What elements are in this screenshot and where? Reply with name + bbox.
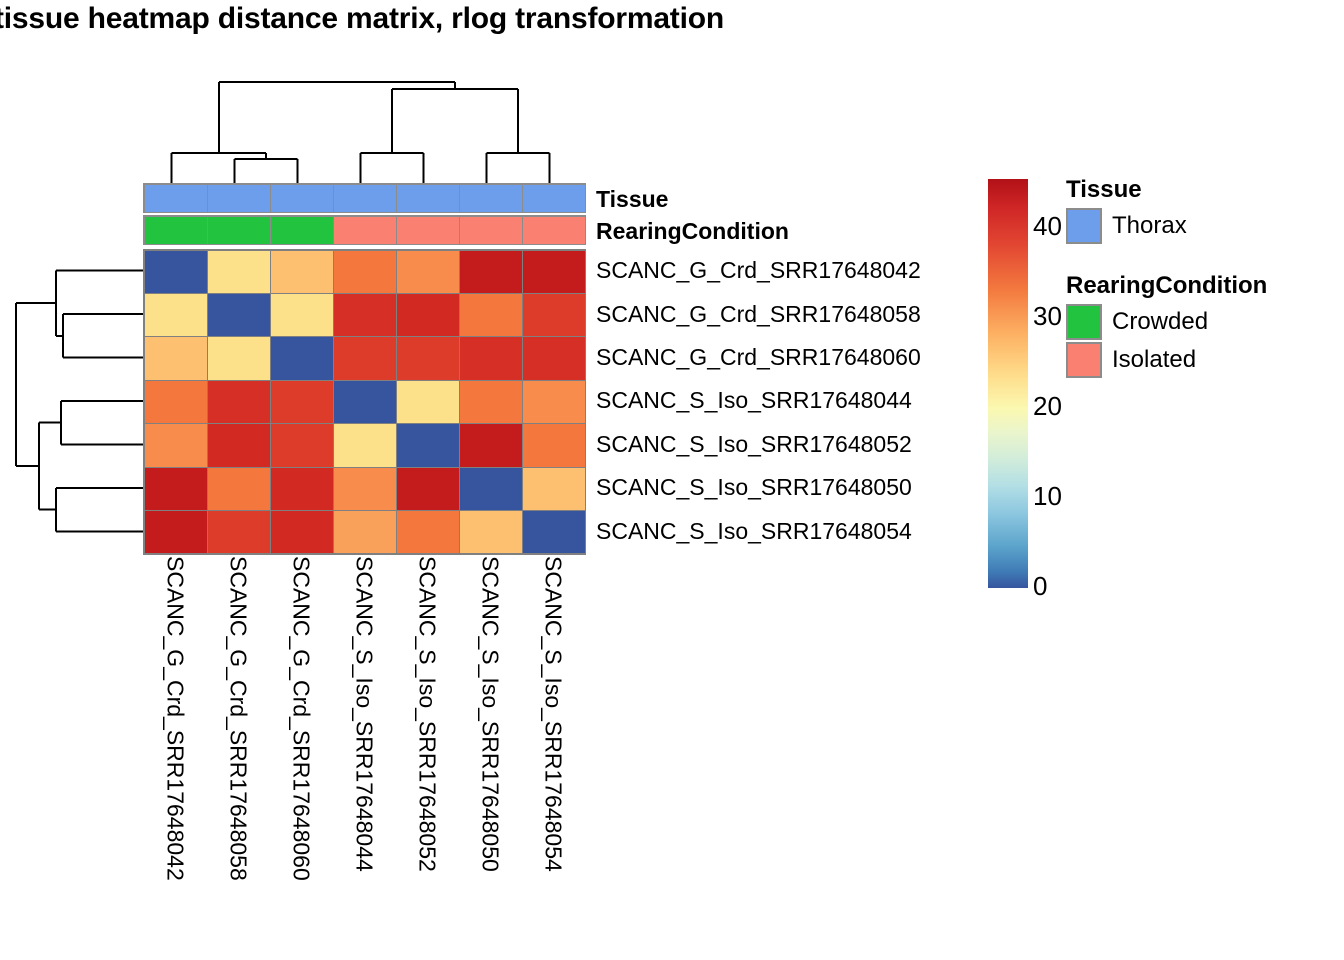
annotation-cell-tissue [207,184,271,213]
heatmap-cell [270,336,334,380]
row-label: SCANC_G_Crd_SRR17648058 [596,292,921,335]
colorbar-tick-label: 0 [1033,571,1047,602]
colorbar-tick-label: 10 [1033,481,1062,512]
heatmap-cell [522,250,586,294]
heatmap-cell [459,510,523,554]
heatmap-cell [207,510,271,554]
heatmap-cell [396,293,460,337]
column-label-text: SCANC_S_Iso_SRR17648052 [413,556,440,872]
heatmap-cell [333,293,397,337]
heatmap-cell [207,380,271,424]
annotation-cell-rearingcondition [459,216,523,245]
heatmap-cell [270,423,334,467]
heatmap-cell [396,336,460,380]
column-label-text: SCANC_G_Crd_SRR17648060 [287,556,314,881]
heatmap-cell [207,293,271,337]
heatmap-cell [207,250,271,294]
column-label-text: SCANC_G_Crd_SRR17648058 [224,556,251,881]
heatmap-cell [459,423,523,467]
annotation-bar-tissue [143,183,586,213]
heatmap-cell [333,380,397,424]
row-label-list: SCANC_G_Crd_SRR17648042SCANC_G_Crd_SRR17… [596,249,921,553]
heatmap-cell [522,293,586,337]
row-dendrogram [6,249,143,553]
legend-item-label: Isolated [1112,346,1196,374]
heatmap-cell [333,336,397,380]
column-label-text: SCANC_S_Iso_SRR17648044 [350,556,377,872]
annotation-cell-tissue [270,184,334,213]
colorbar-tick-label: 30 [1033,301,1062,332]
heatmap-cell [396,423,460,467]
annotation-bar-rearingcondition [143,215,586,245]
annotation-cell-tissue [144,184,208,213]
legend-swatch [1066,342,1102,378]
heatmap-matrix [143,249,586,555]
heatmap-cell [459,293,523,337]
heatmap-cell [522,510,586,554]
column-label: SCANC_S_Iso_SRR17648052 [395,556,458,956]
heatmap-cell [459,336,523,380]
heatmap-cell [333,510,397,554]
legend-item-label: Crowded [1112,308,1208,336]
column-label: SCANC_G_Crd_SRR17648058 [206,556,269,956]
column-label: SCANC_G_Crd_SRR17648042 [143,556,206,956]
annotation-cell-rearingcondition [333,216,397,245]
heatmap-cell [459,467,523,511]
row-label: SCANC_S_Iso_SRR17648044 [596,379,921,422]
legend-item-label: Thorax [1112,212,1187,240]
colorbar-tick-label: 40 [1033,211,1062,242]
annotation-cell-rearingcondition [270,216,334,245]
heatmap-cell [270,380,334,424]
heatmap-cell [333,423,397,467]
column-label-text: SCANC_S_Iso_SRR17648050 [476,556,503,872]
heatmap-cell [144,423,208,467]
heatmap-cell [144,293,208,337]
heatmap-cell [270,467,334,511]
heatmap-cell [270,510,334,554]
annotation-cell-rearingcondition [522,216,586,245]
legend-title-tissue: Tissue [1066,176,1142,204]
annotation-label-rearingcondition: RearingCondition [596,218,789,245]
column-label-list: SCANC_G_Crd_SRR17648042SCANC_G_Crd_SRR17… [143,556,584,956]
heatmap-cell [144,336,208,380]
heatmap-cell [522,423,586,467]
column-label: SCANC_G_Crd_SRR17648060 [269,556,332,956]
annotation-cell-rearingcondition [144,216,208,245]
annotation-cell-tissue [522,184,586,213]
heatmap-cell [144,380,208,424]
row-label: SCANC_G_Crd_SRR17648060 [596,336,921,379]
row-label: SCANC_S_Iso_SRR17648052 [596,423,921,466]
annotation-cell-tissue [333,184,397,213]
heatmap-cell [396,467,460,511]
heatmap-cell [333,250,397,294]
row-label: SCANC_S_Iso_SRR17648054 [596,510,921,553]
row-label: SCANC_G_Crd_SRR17648042 [596,249,921,292]
column-dendrogram [140,40,600,185]
annotation-cell-tissue [459,184,523,213]
column-label-text: SCANC_S_Iso_SRR17648054 [539,556,566,872]
legend-swatch [1066,304,1102,340]
heatmap-cell [270,293,334,337]
distance-colorbar [988,179,1028,588]
legend-swatch [1066,208,1102,244]
row-label: SCANC_S_Iso_SRR17648050 [596,466,921,509]
heatmap-cell [396,510,460,554]
annotation-cell-rearingcondition [396,216,460,245]
annotation-cell-rearingcondition [207,216,271,245]
column-label-text: SCANC_G_Crd_SRR17648042 [161,556,188,881]
heatmap-cell [396,250,460,294]
heatmap-cell [144,250,208,294]
column-label: SCANC_S_Iso_SRR17648044 [332,556,395,956]
heatmap-cell [333,467,397,511]
heatmap-cell [522,336,586,380]
heatmap-cell [207,336,271,380]
page-title: tissue heatmap distance matrix, rlog tra… [0,2,724,36]
heatmap-cell [396,380,460,424]
heatmap-cell [459,380,523,424]
heatmap-cell [144,510,208,554]
heatmap-cell [207,423,271,467]
legend-title-rearingcondition: RearingCondition [1066,272,1267,300]
heatmap-cell [207,467,271,511]
colorbar-tick-label: 20 [1033,391,1062,422]
column-label: SCANC_S_Iso_SRR17648054 [521,556,584,956]
heatmap-cell [522,380,586,424]
heatmap-cell [522,467,586,511]
column-label: SCANC_S_Iso_SRR17648050 [458,556,521,956]
heatmap-cell [270,250,334,294]
annotation-label-tissue: Tissue [596,186,668,213]
heatmap-cell [144,467,208,511]
heatmap-cell [459,250,523,294]
annotation-cell-tissue [396,184,460,213]
